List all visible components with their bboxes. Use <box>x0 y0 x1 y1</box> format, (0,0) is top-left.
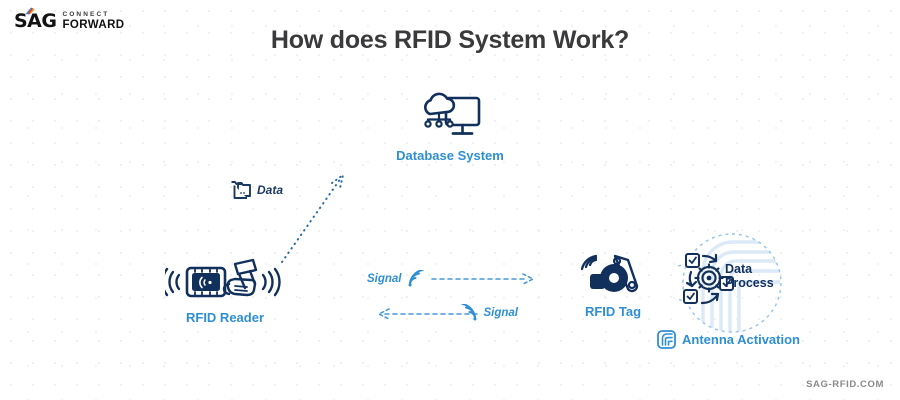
node-rfid-tag-label: RFID Tag <box>585 304 641 319</box>
signal-waves-icon <box>460 304 478 321</box>
node-database-system-label: Database System <box>396 148 504 163</box>
footer-url: SAG-RFID.COM <box>806 379 884 390</box>
node-database-system[interactable]: Database System <box>372 92 528 163</box>
rfid-tag-icon <box>581 250 645 300</box>
antenna-chip-icon <box>657 330 676 349</box>
annotation-antenna-activation: Antenna Activation <box>657 330 800 349</box>
signal-waves-icon <box>407 270 425 287</box>
node-rfid-reader[interactable]: RFID Reader <box>140 258 310 325</box>
folder-files-icon <box>230 180 252 200</box>
annotation-antenna-activation-label: Antenna Activation <box>682 332 800 347</box>
connector-signal-right <box>432 274 533 284</box>
annotation-data: Data <box>230 180 283 200</box>
handheld-rfid-scanner-icon <box>165 258 285 306</box>
annotation-data-process-line1: Data <box>725 262 774 276</box>
node-rfid-reader-label: RFID Reader <box>186 310 264 325</box>
annotation-signal-top: Signal <box>367 270 425 287</box>
annotation-data-process-line2: Process <box>725 276 774 290</box>
connector-reader-to-database <box>282 175 343 262</box>
annotation-signal-bottom: Signal <box>460 304 518 321</box>
cloud-database-monitor-icon <box>417 92 483 144</box>
infographic-canvas: SAG CONNECT FORWARD How does RFID System… <box>0 0 900 400</box>
annotation-signal-top-label: Signal <box>367 273 402 285</box>
annotation-signal-bottom-label: Signal <box>483 307 518 319</box>
annotation-data-label: Data <box>257 183 283 197</box>
node-rfid-tag[interactable]: RFID Tag <box>558 250 668 319</box>
annotation-data-process: Data Process <box>725 262 774 291</box>
